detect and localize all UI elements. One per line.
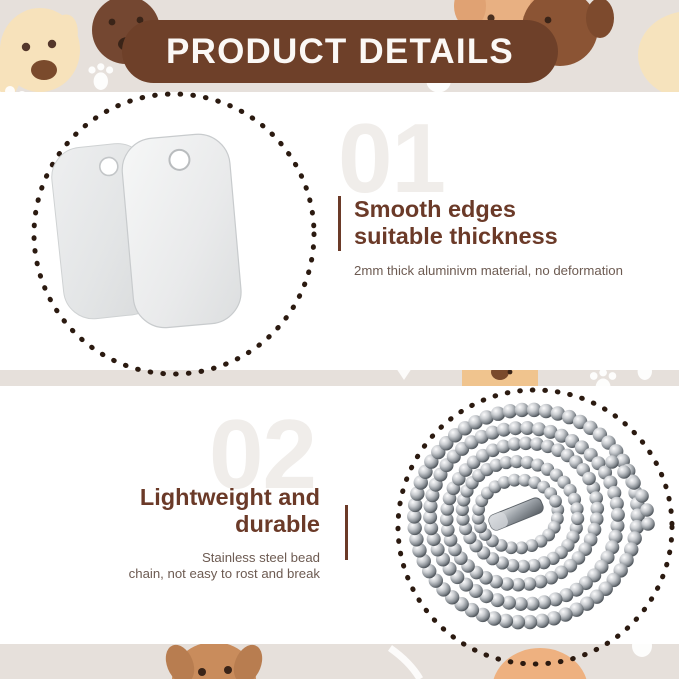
section-two-subtext-line1: Stainless steel bead <box>202 550 320 565</box>
dog-tags-product-image <box>44 108 296 360</box>
section-one-text-block: 01 Smooth edges suitable thickness 2mm t… <box>338 112 674 279</box>
section-one-subtext: 2mm thick aluminivm material, no deforma… <box>338 251 674 280</box>
section-one-accent-bar <box>338 196 341 251</box>
section-two-headline-line1: Lightweight and <box>140 484 320 510</box>
product-details-infographic: 01 Smooth edges suitable thickness 2mm t… <box>0 0 679 679</box>
section-one-headline: Smooth edges suitable thickness <box>338 112 674 251</box>
product-details-banner: PRODUCT DETAILS <box>122 20 558 83</box>
section-one-headline-line1: Smooth edges <box>354 196 516 222</box>
banner-title: PRODUCT DETAILS <box>166 34 514 69</box>
section-one-headline-line2: suitable thickness <box>354 223 558 249</box>
section-two-headline: Lightweight and durable <box>8 408 338 539</box>
section-two-subtext-line2: chain, not easy to rost and break <box>129 566 320 581</box>
section-two-text-block: 02 Lightweight and durable Stainless ste… <box>8 408 338 583</box>
section-two-accent-bar <box>345 505 348 560</box>
bead-chain-product-image <box>398 386 668 654</box>
chain-clasp <box>487 496 545 532</box>
section-two-headline-line2: durable <box>235 511 320 537</box>
dog-tag-front <box>120 132 244 331</box>
section-two-subtext: Stainless steel bead chain, not easy to … <box>8 539 338 584</box>
